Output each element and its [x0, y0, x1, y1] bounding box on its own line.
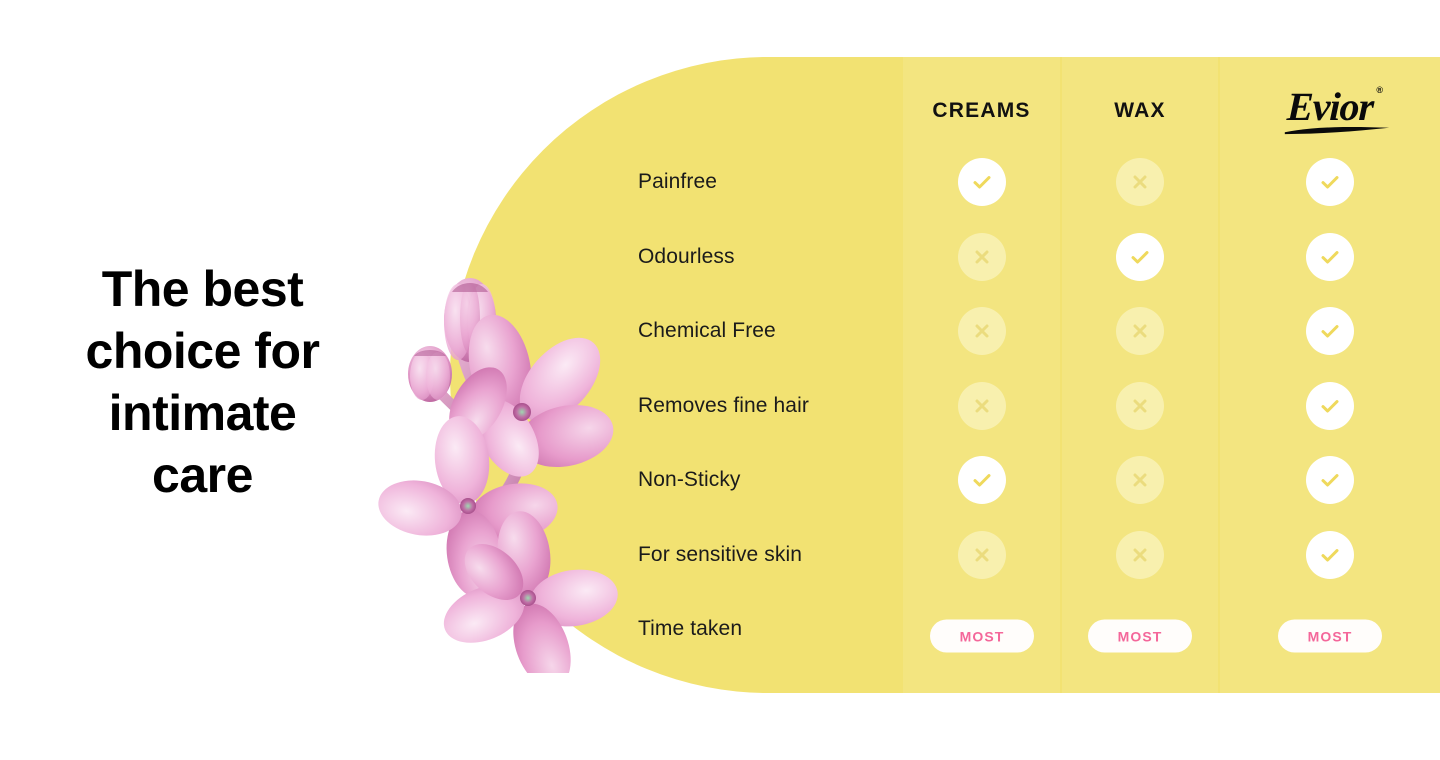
evior-underline-swoosh — [1283, 126, 1391, 135]
check-icon — [1306, 382, 1354, 430]
cross-icon — [1116, 531, 1164, 579]
check-icon — [1306, 233, 1354, 281]
column-header-evior: Evior ® — [1220, 85, 1440, 137]
check-icon — [958, 456, 1006, 504]
check-icon — [1306, 307, 1354, 355]
comparison-table: CREAMS WAX Evior ® PainfreeOdourlessChem… — [450, 57, 1440, 693]
column-header-creams: CREAMS — [903, 93, 1060, 129]
cross-icon — [958, 531, 1006, 579]
row-label: Non-Sticky — [638, 468, 898, 492]
time-taken-badge-creams: MOST — [930, 620, 1034, 653]
time-taken-badge-evior: MOST — [1278, 620, 1382, 653]
check-icon — [1116, 233, 1164, 281]
evior-logo: Evior ® — [1283, 87, 1377, 135]
cross-icon — [1116, 456, 1164, 504]
cross-icon — [1116, 307, 1164, 355]
check-icon — [958, 158, 1006, 206]
row-label: For sensitive skin — [638, 543, 898, 567]
cross-icon — [958, 307, 1006, 355]
evior-logo-text: Evior — [1286, 87, 1374, 127]
check-icon — [1306, 531, 1354, 579]
registered-trademark-icon: ® — [1376, 85, 1383, 95]
check-icon — [1306, 158, 1354, 206]
check-icon — [1306, 456, 1354, 504]
row-label: Removes fine hair — [638, 394, 898, 418]
row-label: Time taken — [638, 617, 898, 641]
column-header-wax-label: WAX — [1114, 99, 1165, 123]
cross-icon — [958, 382, 1006, 430]
row-label: Odourless — [638, 245, 898, 269]
row-label: Painfree — [638, 170, 898, 194]
cross-icon — [1116, 382, 1164, 430]
column-header-wax: WAX — [1062, 93, 1218, 129]
row-label: Chemical Free — [638, 319, 898, 343]
page-headline: The best choice for intimate care — [40, 258, 365, 506]
cross-icon — [958, 233, 1006, 281]
cross-icon — [1116, 158, 1164, 206]
time-taken-badge-wax: MOST — [1088, 620, 1192, 653]
column-header-creams-label: CREAMS — [932, 99, 1030, 123]
